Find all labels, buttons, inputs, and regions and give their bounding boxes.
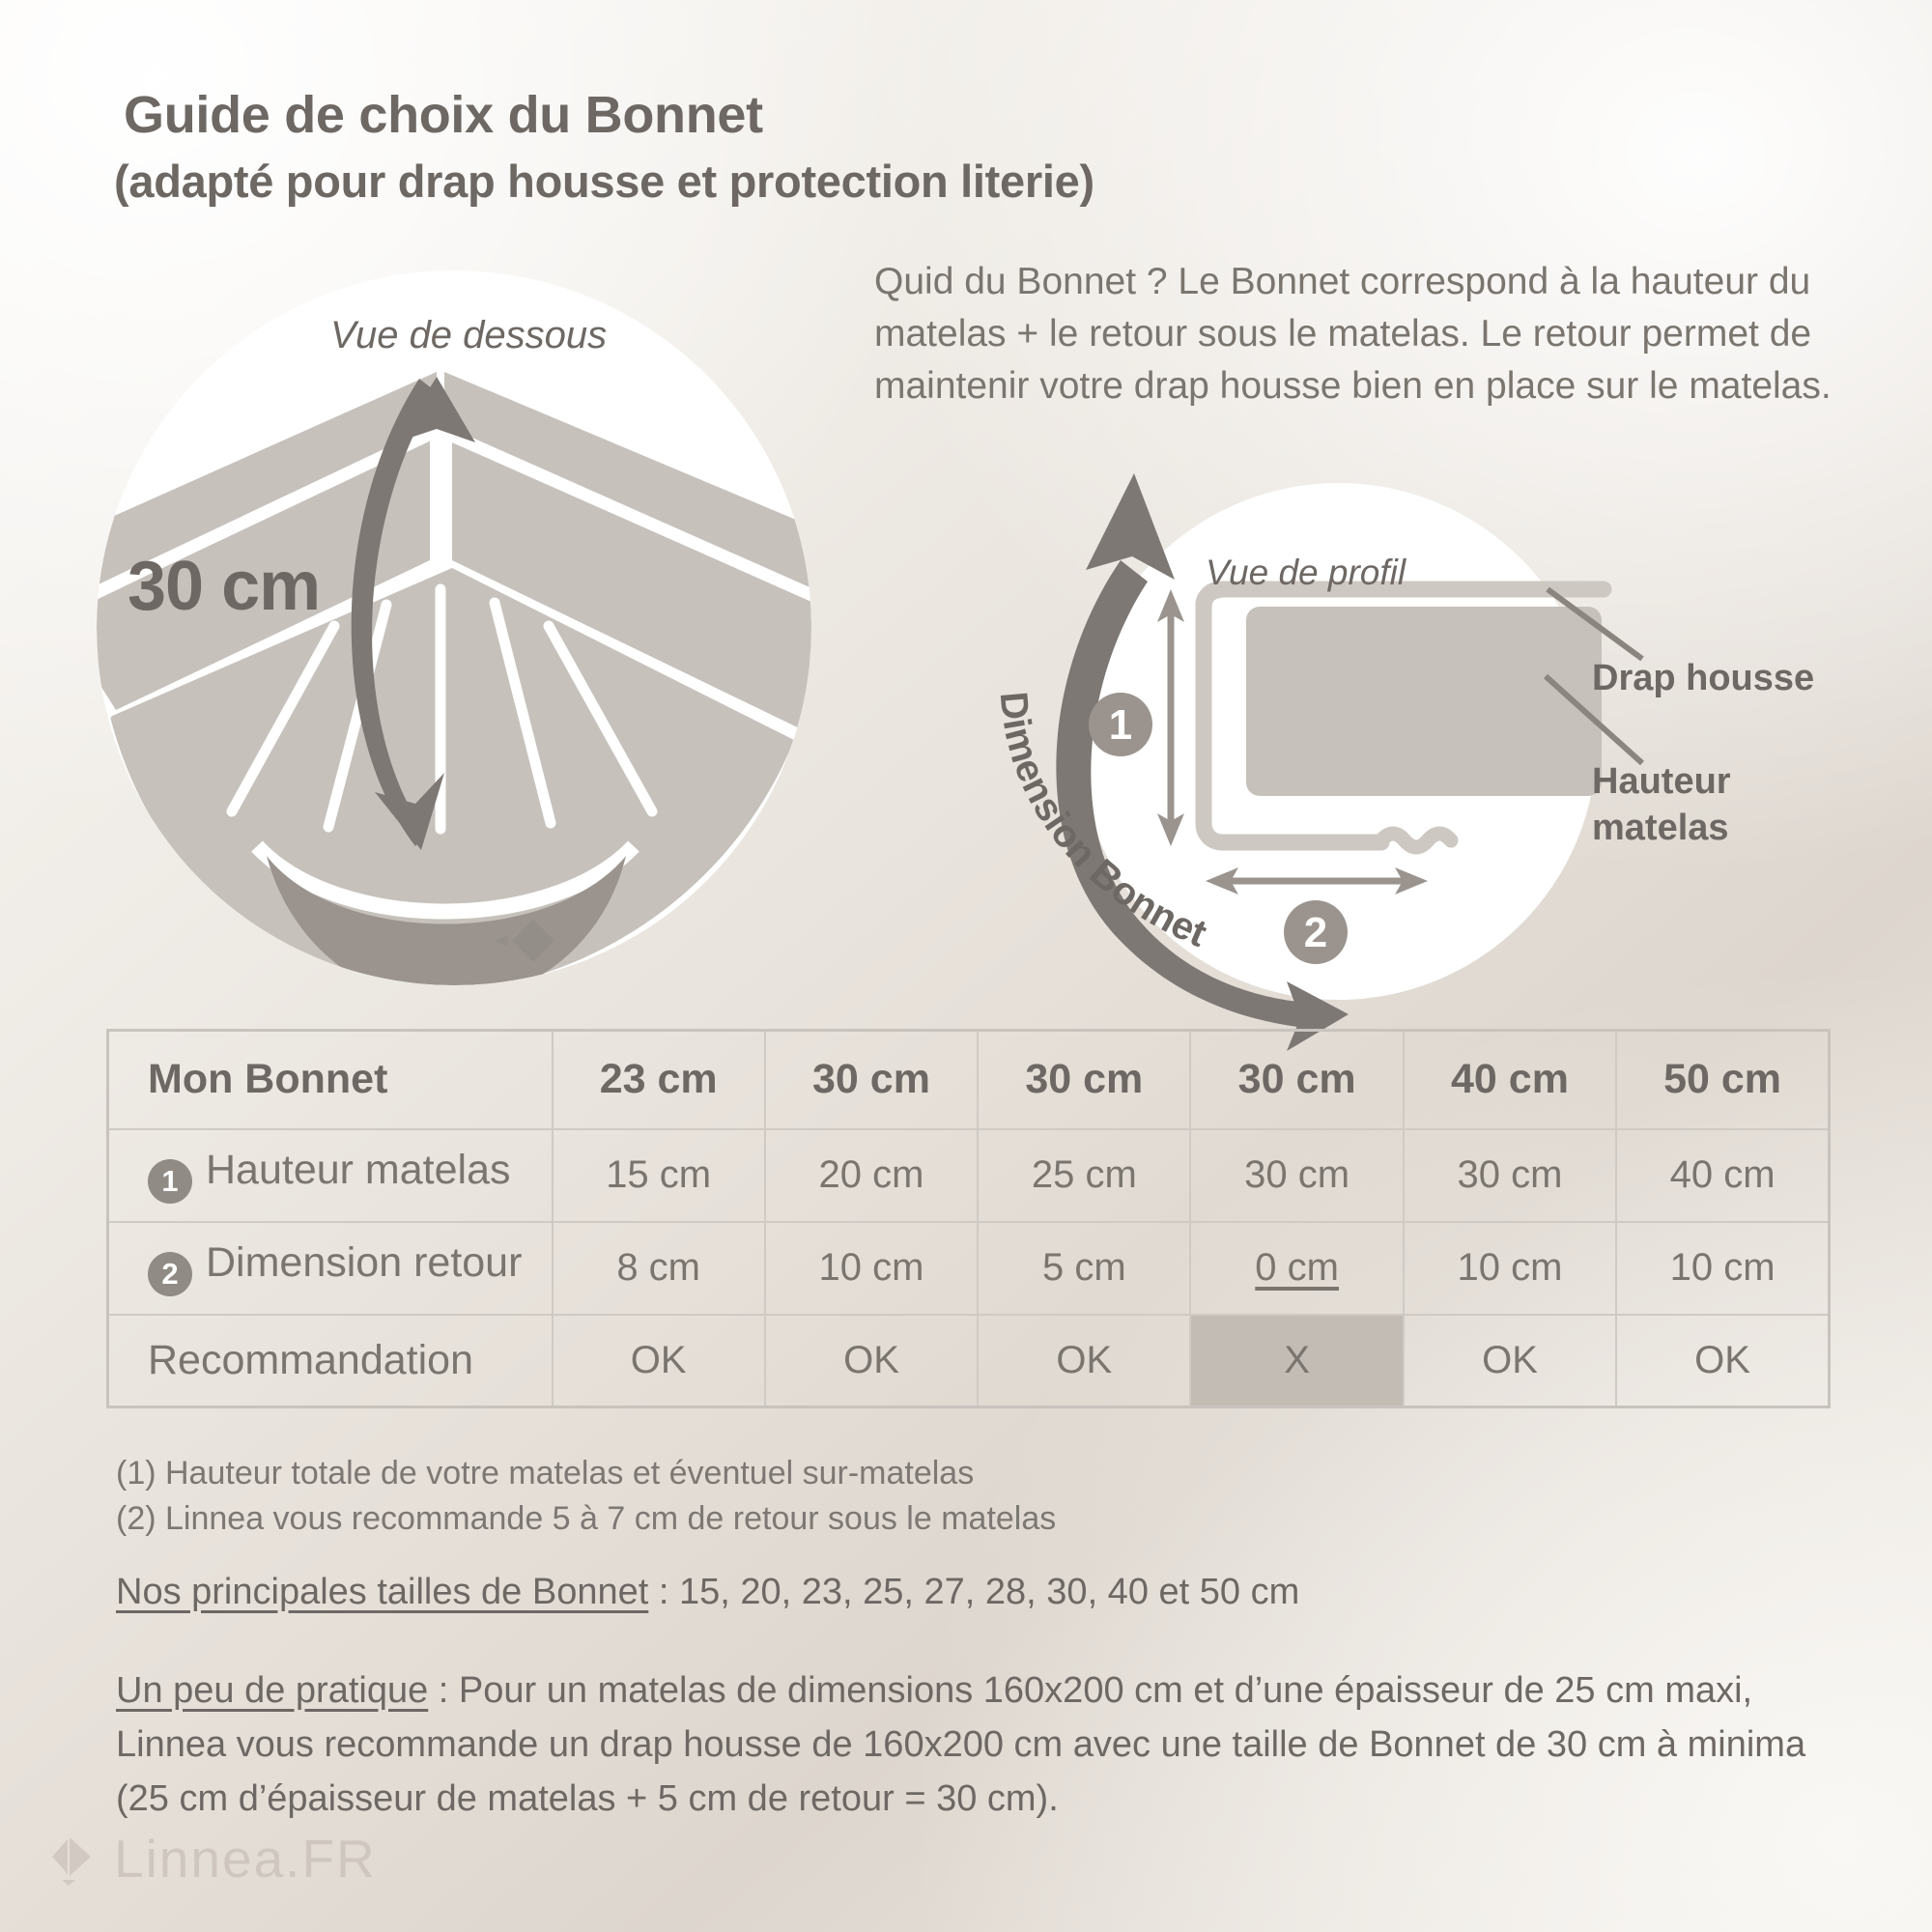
table-header-cell: 30 cm xyxy=(1190,1031,1403,1129)
row-number-badge: 2 xyxy=(148,1252,192,1296)
table-cell: OK xyxy=(553,1315,765,1407)
footnotes: (1) Hauteur totale de votre matelas et é… xyxy=(116,1451,1056,1542)
table-row-label: 2Dimension retour xyxy=(108,1222,553,1315)
elastic-squiggle-icon xyxy=(1381,834,1451,847)
table-row-label: Recommandation xyxy=(108,1315,553,1407)
table-cell: 10 cm xyxy=(1616,1222,1829,1315)
table-cell: 0 cm xyxy=(1190,1222,1403,1315)
table-row: 2Dimension retour8 cm10 cm5 cm0 cm10 cm1… xyxy=(108,1222,1830,1315)
table-cell: OK xyxy=(765,1315,978,1407)
principales-tailles-line: Nos principales tailles de Bonnet : 15, … xyxy=(116,1572,1299,1613)
table-cell-underlined: 0 cm xyxy=(1255,1246,1339,1289)
logo-text: Linnea.FR xyxy=(114,1828,377,1889)
table-header-title: Mon Bonnet xyxy=(108,1031,553,1129)
table-header-cell: 40 cm xyxy=(1404,1031,1616,1129)
table-cell: OK xyxy=(1404,1315,1616,1407)
footnote-2: (2) Linnea vous recommande 5 à 7 cm de r… xyxy=(116,1496,1056,1542)
footnote-1: (1) Hauteur totale de votre matelas et é… xyxy=(116,1451,1056,1496)
principales-underlined: Nos principales tailles de Bonnet xyxy=(116,1572,648,1612)
table-cell: 15 cm xyxy=(553,1129,765,1222)
svg-text:Dimension Bonnet: Dimension Bonnet xyxy=(992,690,1213,955)
diagram-underside-circle xyxy=(97,270,811,985)
page-title: Guide de choix du Bonnet xyxy=(124,85,763,145)
table-cell: 5 cm xyxy=(978,1222,1190,1315)
table-cell: OK xyxy=(978,1315,1190,1407)
table-row: 1Hauteur matelas15 cm20 cm25 cm30 cm30 c… xyxy=(108,1129,1830,1222)
bonnet-table: Mon Bonnet23 cm30 cm30 cm30 cm40 cm50 cm… xyxy=(106,1029,1831,1408)
table-cell: 30 cm xyxy=(1404,1129,1616,1222)
table-cell: 10 cm xyxy=(1404,1222,1616,1315)
table-header-cell: 30 cm xyxy=(765,1031,978,1129)
pratique-paragraph: Un peu de pratique : Pour un matelas de … xyxy=(116,1663,1845,1826)
table-cell-flagged: X xyxy=(1190,1315,1403,1407)
table-header-cell: 23 cm xyxy=(553,1031,765,1129)
table-cell: 10 cm xyxy=(765,1222,978,1315)
table-header-cell: 50 cm xyxy=(1616,1031,1829,1129)
measure-30cm-label: 30 cm xyxy=(128,547,320,626)
label-hauteur-line1: Hauteur xyxy=(1592,761,1731,802)
bonnet-table-wrapper: Mon Bonnet23 cm30 cm30 cm30 cm40 cm50 cm… xyxy=(106,1029,1831,1408)
caption-vue-de-profil: Vue de profil xyxy=(1206,553,1406,593)
table-header-cell: 30 cm xyxy=(978,1031,1190,1129)
dimension-bonnet-label: Dimension Bonnet xyxy=(966,676,1372,985)
page-subtitle: (adapté pour drap housse et protection l… xyxy=(114,155,1094,208)
label-hauteur-line2: matelas xyxy=(1592,808,1729,848)
table-cell: OK xyxy=(1616,1315,1829,1407)
table-row: RecommandationOKOKOKXOKOK xyxy=(108,1315,1830,1407)
label-hauteur-matelas: Hauteur matelas xyxy=(1592,758,1731,851)
principales-rest: : 15, 20, 23, 25, 27, 28, 30, 40 et 50 c… xyxy=(648,1572,1299,1612)
underside-illustration xyxy=(97,270,811,985)
label-drap-housse: Drap housse xyxy=(1592,655,1814,701)
table-cell: 20 cm xyxy=(765,1129,978,1222)
pratique-underlined: Un peu de pratique xyxy=(116,1670,428,1711)
intro-paragraph: Quid du Bonnet ? Le Bonnet correspond à … xyxy=(874,256,1840,412)
caption-vue-de-dessous: Vue de dessous xyxy=(330,314,607,357)
table-cell: 25 cm xyxy=(978,1129,1190,1222)
linnea-diamond-icon xyxy=(41,1832,97,1886)
table-header-row: Mon Bonnet23 cm30 cm30 cm30 cm40 cm50 cm xyxy=(108,1031,1830,1129)
table-row-label: 1Hauteur matelas xyxy=(108,1129,553,1222)
infographic-page: Guide de choix du Bonnet (adapté pour dr… xyxy=(0,0,1932,1932)
table-cell: 30 cm xyxy=(1190,1129,1403,1222)
logo[interactable]: Linnea.FR xyxy=(41,1828,377,1889)
table-cell: 40 cm xyxy=(1616,1129,1829,1222)
table-cell: 8 cm xyxy=(553,1222,765,1315)
row-number-badge: 1 xyxy=(148,1159,192,1204)
